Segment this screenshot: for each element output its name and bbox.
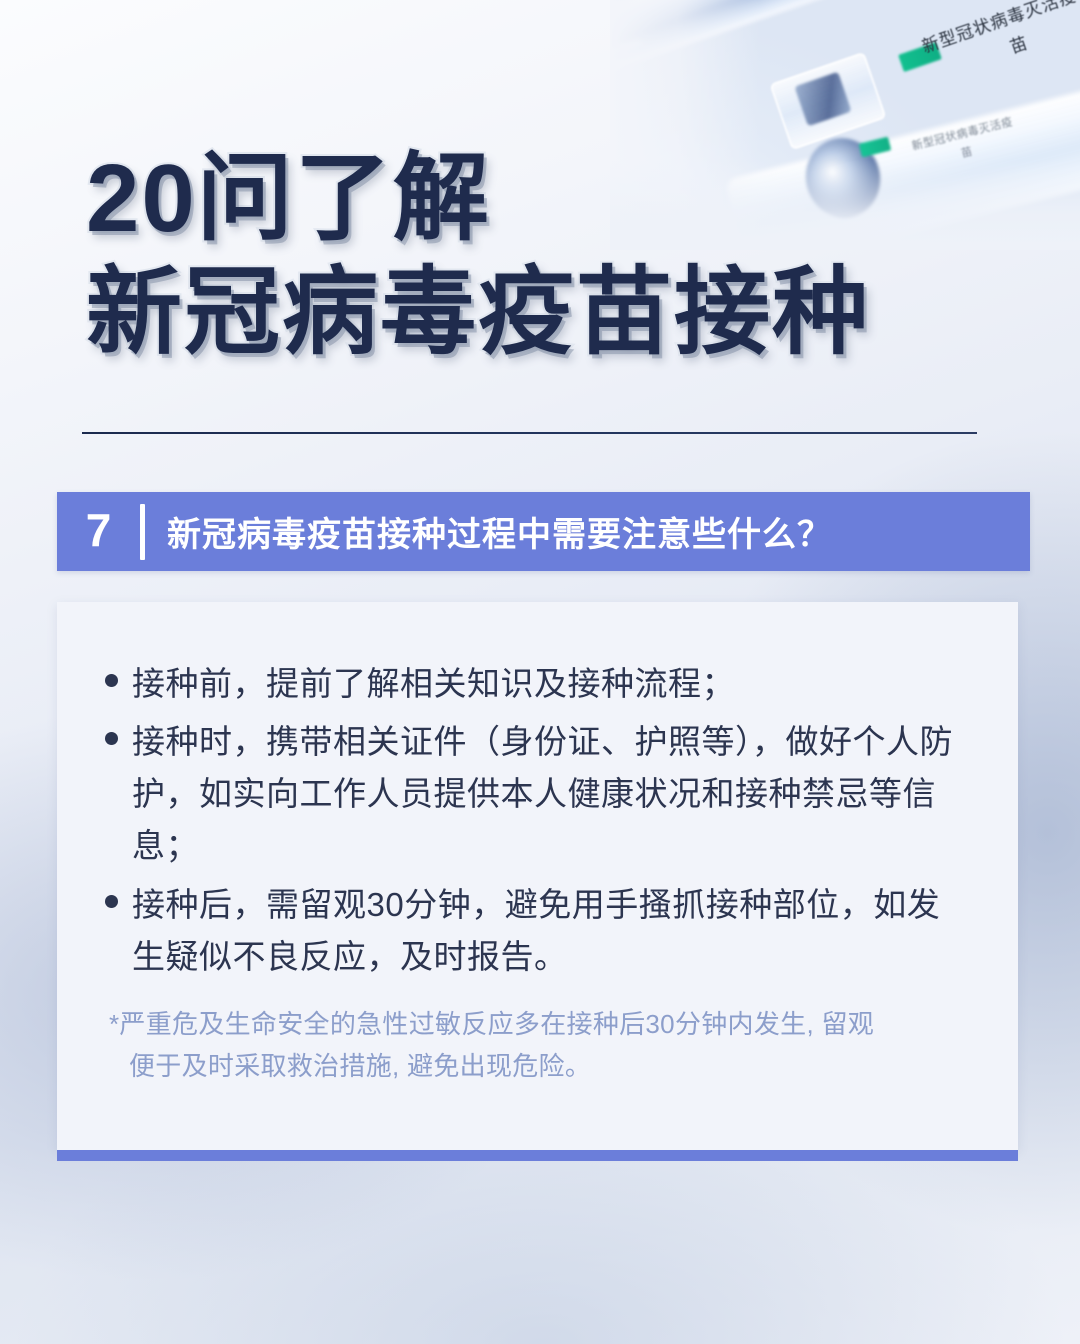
question-number: 7 — [57, 507, 140, 556]
footnote-line-2: 便于及时采取救治措施, 避免出现危险。 — [109, 1045, 966, 1087]
question-divider — [140, 504, 145, 560]
bullet-dot-icon — [105, 895, 118, 908]
list-item-text: 接种时，携带相关证件（身份证、护照等），做好个人防护，如实向工作人员提供本人健康… — [132, 716, 966, 872]
bullet-dot-icon — [105, 732, 118, 745]
list-item: 接种时，携带相关证件（身份证、护照等），做好个人防护，如实向工作人员提供本人健康… — [105, 716, 966, 872]
list-item-text: 接种前，提前了解相关知识及接种流程； — [132, 658, 735, 710]
list-item-text: 接种后，需留观30分钟，避免用手搔抓接种部位，如发生疑似不良反应，及时报告。 — [132, 879, 966, 983]
list-item: 接种前，提前了解相关知识及接种流程； — [105, 658, 966, 710]
footnote-line-1: *严重危及生命安全的急性过敏反应多在接种后30分钟内发生, 留观 — [109, 1009, 874, 1039]
title-line-1: 20问了解 — [86, 148, 870, 250]
title-line-2: 新冠病毒疫苗接种 — [86, 262, 870, 364]
question-text: 新冠病毒疫苗接种过程中需要注意些什么？ — [167, 507, 832, 556]
answer-card-body: 接种前，提前了解相关知识及接种流程； 接种时，携带相关证件（身份证、护照等），做… — [57, 602, 1018, 1087]
list-item: 接种后，需留观30分钟，避免用手搔抓接种部位，如发生疑似不良反应，及时报告。 — [105, 879, 966, 983]
question-header-bar: 7 新冠病毒疫苗接种过程中需要注意些什么？ — [57, 492, 1030, 571]
bullet-dot-icon — [105, 674, 118, 687]
answer-card: 接种前，提前了解相关知识及接种流程； 接种时，携带相关证件（身份证、护照等），做… — [57, 602, 1018, 1150]
page-title: 20问了解 新冠病毒疫苗接种 — [86, 148, 870, 364]
title-divider-rule — [82, 432, 977, 434]
card-accent-bar — [57, 1150, 1018, 1161]
footnote: *严重危及生命安全的急性过敏反应多在接种后30分钟内发生, 留观 便于及时采取救… — [109, 1003, 966, 1087]
vial-label-primary: 新型冠状病毒灭活疫 苗 — [918, 0, 1080, 85]
poster-root: 新型冠状病毒灭活疫 苗 新型冠状病毒灭活疫 苗 20问了解 新冠病毒疫苗接种 7… — [0, 0, 1080, 1344]
